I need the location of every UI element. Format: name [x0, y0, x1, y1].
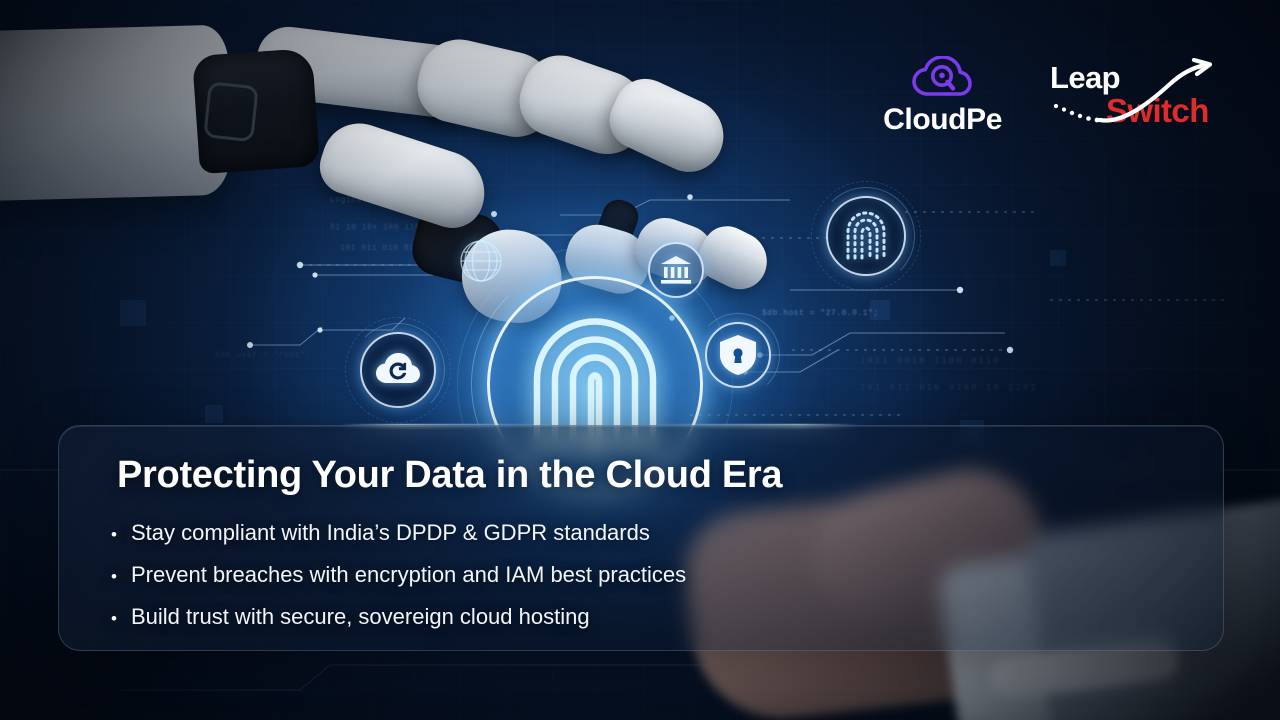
logo-group: CloudPe Leap Switch	[883, 56, 1240, 135]
cloudpe-wordmark: CloudPe	[883, 105, 1002, 135]
bullet-marker: •	[109, 557, 119, 597]
list-item: • Build trust with secure, sovereign clo…	[109, 597, 1179, 639]
cloudpe-logo[interactable]: CloudPe	[883, 56, 1002, 135]
content-panel: Protecting Your Data in the Cloud Era • …	[58, 425, 1224, 651]
cloud-icon	[912, 56, 974, 103]
code-snippet: $db_user = "root";	[215, 350, 310, 362]
code-snippet: 101 011 010 0100 10 1101	[860, 382, 1038, 396]
bullet-marker: •	[109, 599, 119, 639]
bullet-marker: •	[109, 515, 119, 555]
marketing-banner: Logical Need the 12 1 0 01 10 10x 100 11…	[0, 0, 1280, 720]
list-item-label: Prevent breaches with encryption and IAM…	[131, 555, 686, 595]
bank-icon	[648, 242, 704, 298]
benefit-list: • Stay compliant with India’s DPDP & GDP…	[109, 513, 1179, 639]
leapswitch-logo[interactable]: Leap Switch	[1044, 58, 1240, 134]
code-snippet: 1011 0010 1100 0110	[860, 355, 1001, 369]
fingerprint-scan-icon	[826, 196, 906, 276]
list-item-label: Stay compliant with India’s DPDP & GDPR …	[131, 513, 650, 553]
shield-lock-icon	[705, 322, 771, 388]
curved-arrow-icon	[1044, 58, 1240, 134]
list-item-label: Build trust with secure, sovereign cloud…	[131, 597, 590, 637]
cloud-sync-icon	[360, 332, 436, 408]
page-title: Protecting Your Data in the Cloud Era	[117, 454, 1179, 497]
globe-icon	[458, 238, 504, 284]
list-item: • Stay compliant with India’s DPDP & GDP…	[109, 513, 1179, 555]
list-item: • Prevent breaches with encryption and I…	[109, 555, 1179, 597]
